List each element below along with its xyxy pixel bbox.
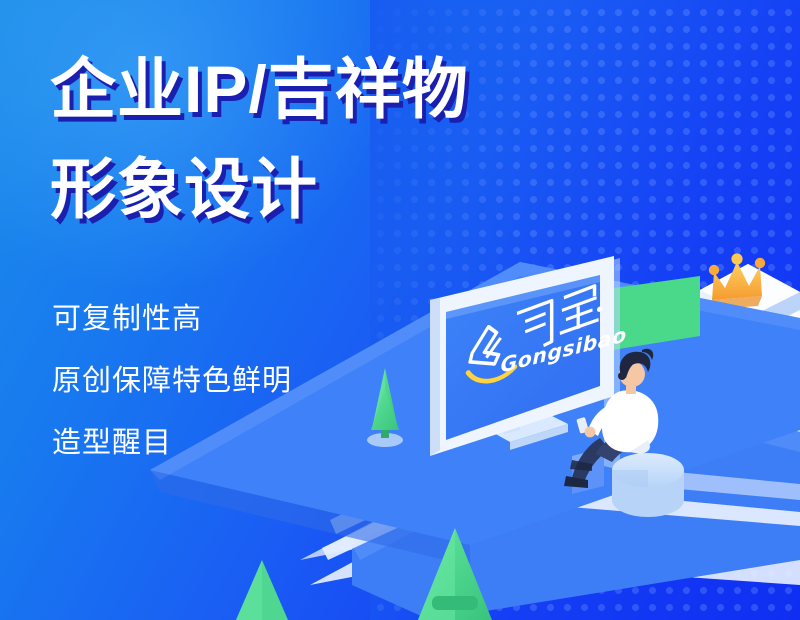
crown-on-tower — [709, 253, 765, 309]
light-band — [604, 258, 620, 470]
feature-item-3: 造型醒目 — [52, 429, 172, 458]
feature-item-1: 可复制性高 — [52, 305, 202, 334]
desktop-monitor: Gongsibao — [430, 256, 627, 456]
headline-line-2: 形象设计 — [50, 156, 318, 222]
logo-latin-wordmark: Gongsibao — [501, 322, 627, 377]
promo-poster: Gongsibao — [0, 0, 800, 620]
svg-text:Gongsibao: Gongsibao — [501, 322, 627, 377]
brand-logo: Gongsibao — [468, 278, 627, 387]
headline-line-1: 企业IP/吉祥物 — [50, 56, 469, 122]
green-accent-panel — [590, 276, 700, 352]
seated-person-with-phone — [564, 349, 684, 517]
feature-item-2: 原创保障特色鲜明 — [52, 367, 292, 396]
isometric-towers — [700, 264, 800, 520]
headline-block: 企业IP/吉祥物 形象设计 可复制性高 原创保障特色鲜明 造型醒目 — [0, 0, 430, 620]
